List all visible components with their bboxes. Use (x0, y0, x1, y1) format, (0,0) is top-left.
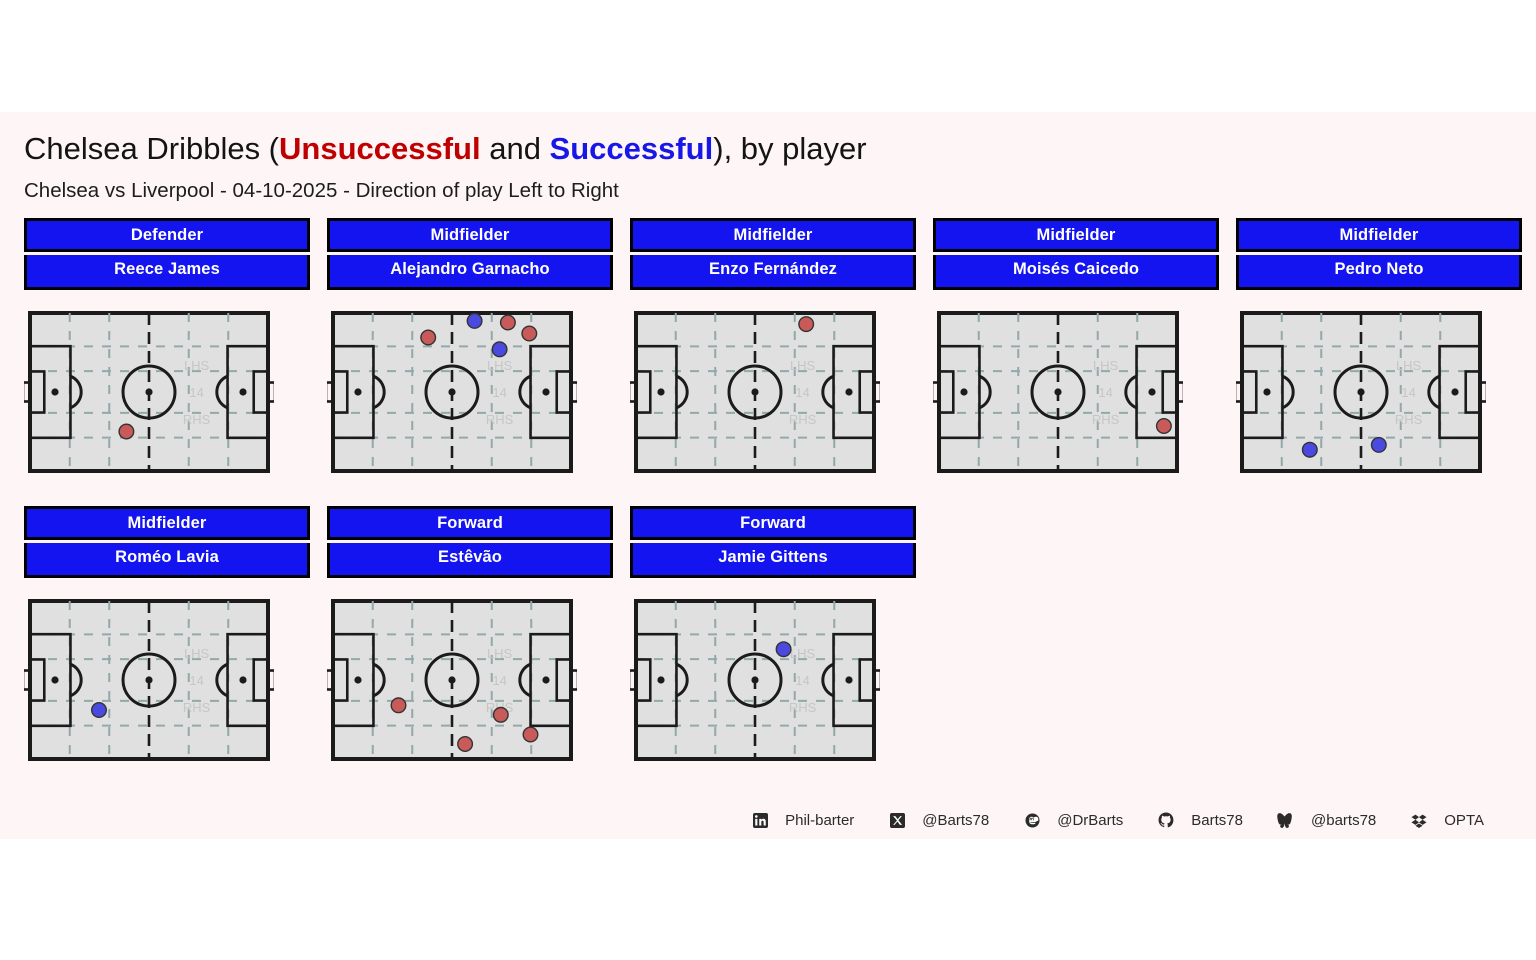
title-team: Chelsea (24, 131, 138, 166)
svg-text:RHS: RHS (789, 412, 817, 427)
player-name-header: Reece James (24, 255, 310, 290)
player-card[interactable]: MidfielderEnzo FernándezLHS14RHS (630, 218, 916, 477)
svg-text:RHS: RHS (1092, 412, 1120, 427)
title-and: and (481, 131, 550, 166)
player-name-header: Roméo Lavia (24, 543, 310, 578)
footer-label: OPTA (1444, 812, 1484, 829)
footer-item[interactable]: OPTA (1406, 810, 1484, 830)
player-row-2: MidfielderRoméo LaviaLHS14RHSForwardEstê… (24, 506, 1520, 794)
player-position-header: Forward (630, 506, 916, 540)
visualization-root: Chelsea Dribbles (Unsuccessful and Succe… (0, 112, 1536, 839)
svg-text:LHS: LHS (487, 646, 513, 661)
footer-label: @barts78 (1311, 812, 1376, 829)
dropbox-icon[interactable] (1406, 810, 1432, 830)
linkedin-icon[interactable] (747, 810, 773, 830)
player-card[interactable]: ForwardEstêvãoLHS14RHS (327, 506, 613, 765)
svg-text:RHS: RHS (1395, 412, 1423, 427)
bluesky-icon[interactable] (1273, 810, 1299, 830)
player-position-header: Midfielder (327, 218, 613, 252)
footer-item[interactable]: @Barts78 (884, 810, 1015, 830)
player-name-header: Enzo Fernández (630, 255, 916, 290)
footer-credits: Phil-barter@Barts78@DrBartsBarts78@barts… (0, 802, 1496, 838)
player-pitch[interactable]: LHS14RHS (630, 307, 916, 477)
x-twitter-icon[interactable] (884, 810, 910, 830)
footer-item[interactable]: @DrBarts (1019, 810, 1149, 830)
mastodon-icon[interactable] (1019, 810, 1045, 830)
pitch-plot: LHS14RHS (327, 307, 577, 477)
footer-label: Barts78 (1191, 812, 1243, 829)
footer-label: @Barts78 (922, 812, 989, 829)
svg-text:LHS: LHS (1093, 358, 1119, 373)
player-card[interactable]: MidfielderMoisés CaicedoLHS14RHS (933, 218, 1219, 477)
player-position-header: Forward (327, 506, 613, 540)
player-name-header: Estêvão (327, 543, 613, 578)
svg-text:RHS: RHS (486, 412, 514, 427)
title-tail: ), by player (713, 131, 866, 166)
player-card[interactable]: MidfielderRoméo LaviaLHS14RHS (24, 506, 310, 765)
player-position-header: Defender (24, 218, 310, 252)
github-icon[interactable] (1153, 810, 1179, 830)
svg-text:LHS: LHS (790, 358, 816, 373)
pitch-plot: LHS14RHS (1236, 307, 1486, 477)
pitch-plot: LHS14RHS (24, 307, 274, 477)
svg-text:14: 14 (795, 385, 809, 400)
footer-item[interactable]: Barts78 (1153, 810, 1269, 830)
svg-text:RHS: RHS (789, 700, 817, 715)
pitch-plot: LHS14RHS (630, 595, 880, 765)
svg-text:LHS: LHS (790, 646, 816, 661)
player-pitch[interactable]: LHS14RHS (327, 595, 613, 765)
player-name-header: Jamie Gittens (630, 543, 916, 578)
player-pitch[interactable]: LHS14RHS (24, 595, 310, 765)
player-pitch[interactable]: LHS14RHS (630, 595, 916, 765)
player-card[interactable]: ForwardJamie GittensLHS14RHS (630, 506, 916, 765)
page-title: Chelsea Dribbles (Unsuccessful and Succe… (24, 130, 867, 168)
footer-label: @DrBarts (1057, 812, 1123, 829)
title-successful: Successful (550, 131, 714, 166)
footer-item[interactable]: @barts78 (1273, 810, 1402, 830)
player-row-1: DefenderReece JamesLHS14RHSMidfielderAle… (24, 218, 1520, 506)
svg-text:14: 14 (492, 673, 506, 688)
pitch-plot: LHS14RHS (327, 595, 577, 765)
svg-text:14: 14 (795, 673, 809, 688)
svg-text:14: 14 (1098, 385, 1112, 400)
footer-item[interactable]: Phil-barter (747, 810, 880, 830)
player-card[interactable]: MidfielderAlejandro GarnachoLHS14RHS (327, 218, 613, 477)
player-pitch[interactable]: LHS14RHS (327, 307, 613, 477)
pitch-plot: LHS14RHS (933, 307, 1183, 477)
svg-text:LHS: LHS (1396, 358, 1422, 373)
player-name-header: Moisés Caicedo (933, 255, 1219, 290)
page-subtitle: Chelsea vs Liverpool - 04-10-2025 - Dire… (24, 178, 619, 204)
svg-text:LHS: LHS (487, 358, 513, 373)
svg-text:14: 14 (189, 385, 203, 400)
player-card-grid: DefenderReece JamesLHS14RHSMidfielderAle… (24, 218, 1520, 794)
player-position-header: Midfielder (630, 218, 916, 252)
player-name-header: Pedro Neto (1236, 255, 1522, 290)
pitch-plot: LHS14RHS (24, 595, 274, 765)
svg-text:14: 14 (492, 385, 506, 400)
title-mid: Dribbles ( (138, 131, 279, 166)
svg-text:LHS: LHS (184, 646, 210, 661)
player-card[interactable]: DefenderReece JamesLHS14RHS (24, 218, 310, 477)
player-position-header: Midfielder (1236, 218, 1522, 252)
player-position-header: Midfielder (933, 218, 1219, 252)
svg-text:14: 14 (1401, 385, 1415, 400)
player-pitch[interactable]: LHS14RHS (933, 307, 1219, 477)
svg-text:RHS: RHS (183, 412, 211, 427)
svg-text:RHS: RHS (183, 700, 211, 715)
svg-text:14: 14 (189, 673, 203, 688)
footer-label: Phil-barter (785, 812, 854, 829)
player-pitch[interactable]: LHS14RHS (1236, 307, 1522, 477)
title-unsuccessful: Unsuccessful (279, 131, 481, 166)
player-position-header: Midfielder (24, 506, 310, 540)
svg-text:LHS: LHS (184, 358, 210, 373)
player-pitch[interactable]: LHS14RHS (24, 307, 310, 477)
pitch-plot: LHS14RHS (630, 307, 880, 477)
player-card[interactable]: MidfielderPedro NetoLHS14RHS (1236, 218, 1522, 477)
player-name-header: Alejandro Garnacho (327, 255, 613, 290)
